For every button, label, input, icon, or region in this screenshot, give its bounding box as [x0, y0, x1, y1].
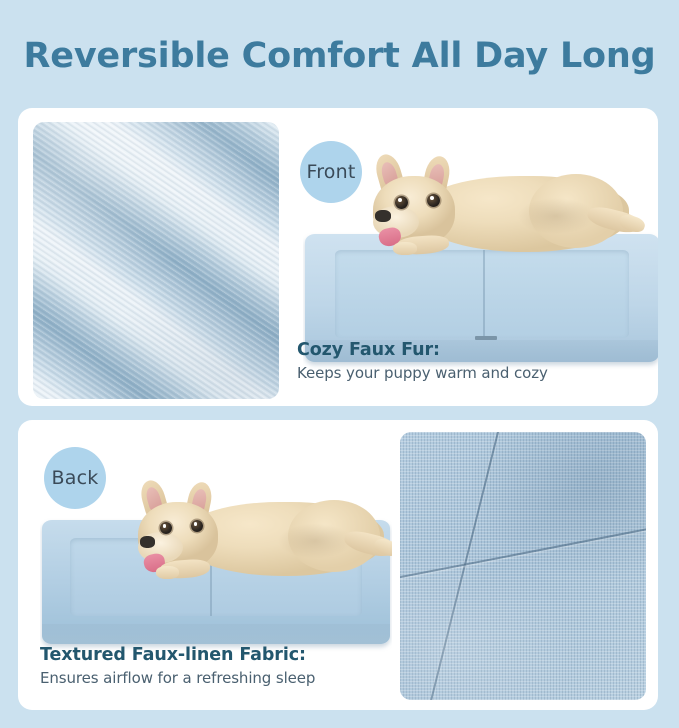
faux-linen-texture-swatch: [400, 432, 646, 700]
dog-front-paw: [393, 242, 417, 255]
dog-eye-right: [427, 194, 440, 207]
front-feature-card: Front Cozy Faux Fur: Keeps your puppy wa…: [18, 108, 658, 406]
page-title: Reversible Comfort All Day Long: [0, 36, 679, 76]
badge-back[interactable]: Back: [44, 447, 106, 509]
french-bulldog: [118, 480, 392, 598]
front-headline: Cozy Faux Fur:: [297, 340, 548, 360]
fur-fiber-overlay: [33, 122, 279, 399]
linen-panel-shading: [400, 432, 646, 700]
back-headline: Textured Faux-linen Fabric:: [40, 645, 315, 665]
badge-front[interactable]: Front: [300, 141, 362, 203]
dog-front-paw: [156, 566, 179, 579]
dog-nose: [140, 536, 155, 548]
dog-nose: [375, 210, 391, 222]
back-feature-card: Back Textured Faux-linen Fabric: Ensures…: [18, 420, 658, 710]
french-bulldog: [351, 154, 651, 274]
dog-eye-left: [160, 522, 172, 534]
front-subline: Keeps your puppy warm and cozy: [297, 364, 548, 382]
back-caption-block: Textured Faux-linen Fabric: Ensures airf…: [40, 645, 315, 687]
front-caption-block: Cozy Faux Fur: Keeps your puppy warm and…: [297, 340, 548, 382]
dog-eye-left: [395, 196, 408, 209]
faux-fur-texture-swatch: [33, 122, 279, 399]
mat-front-edge: [42, 624, 390, 644]
back-subline: Ensures airflow for a refreshing sleep: [40, 669, 315, 687]
dog-eye-right: [191, 520, 203, 532]
